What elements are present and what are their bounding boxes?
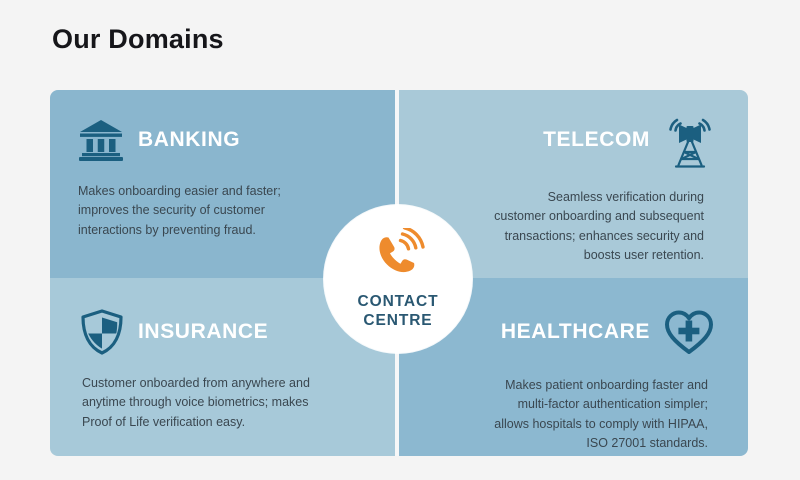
card-header-insurance: INSURANCE xyxy=(80,306,369,358)
hub-label-line2: CENTRE xyxy=(358,312,439,331)
card-body-healthcare: Makes patient onboarding faster and mult… xyxy=(483,376,708,454)
card-header-banking: BANKING xyxy=(78,114,369,166)
card-body-banking: Makes onboarding easier and faster; impr… xyxy=(78,182,303,240)
bank-icon xyxy=(78,118,124,162)
card-header-telecom: TELECOM xyxy=(425,114,716,166)
card-body-telecom: Seamless verification during customer on… xyxy=(494,188,704,266)
page-title: Our Domains xyxy=(52,24,224,55)
card-title-telecom: TELECOM xyxy=(543,128,650,152)
shield-icon xyxy=(80,308,124,356)
hub-label-line1: CONTACT xyxy=(358,293,439,312)
card-title-healthcare: HEALTHCARE xyxy=(501,320,650,344)
card-body-insurance: Customer onboarded from anywhere and any… xyxy=(82,374,322,432)
card-header-healthcare: HEALTHCARE xyxy=(425,306,714,358)
heart-plus-icon xyxy=(664,308,714,356)
cell-tower-icon xyxy=(664,111,716,169)
phone-ringing-icon xyxy=(371,228,425,287)
contact-centre-label: CONTACT CENTRE xyxy=(358,293,439,331)
card-title-banking: BANKING xyxy=(138,128,240,152)
contact-centre-hub[interactable]: CONTACT CENTRE xyxy=(324,205,472,353)
card-title-insurance: INSURANCE xyxy=(138,320,268,344)
